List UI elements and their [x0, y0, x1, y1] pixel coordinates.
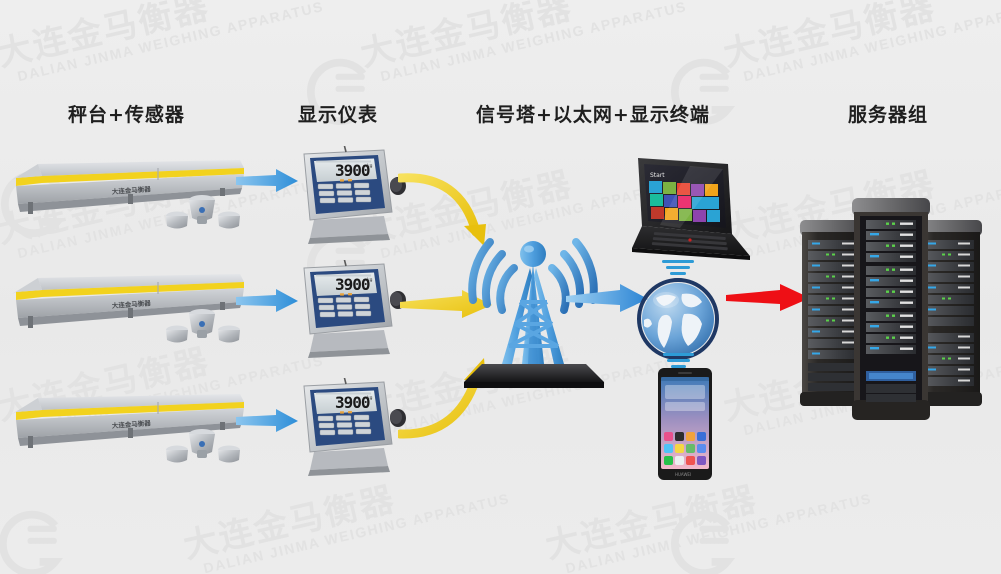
watermark-english: DALIAN JINMA WEIGHING APPARATUS [564, 490, 874, 574]
heading-indicator: 显示仪表 [298, 100, 378, 127]
diagram-canvas: 大连金马衡器 DALIAN JINMA WEIGHING APPARATUS 大… [0, 0, 1001, 574]
watermark-chinese: 大连金马衡器 [355, 0, 686, 76]
indicator-display-unit: kg [367, 163, 373, 169]
weight-indicator[interactable]: 3900 kg [288, 146, 408, 250]
load-cell-sensor [166, 326, 188, 343]
load-cell-sensor [166, 212, 188, 229]
load-cell-sensor-group [165, 186, 243, 232]
load-cell-sensor [218, 446, 240, 463]
load-cell-sensor [189, 429, 215, 458]
heading-scale: 秤台+传感器 [68, 100, 185, 127]
weight-indicator[interactable]: 3900 kg [288, 378, 408, 482]
load-cell-sensor [218, 212, 240, 229]
watermark: 大连金马衡器 DALIAN JINMA WEIGHING APPARATUS [355, 0, 688, 87]
indicator-display-value: 3900 [335, 393, 370, 412]
watermark: 大连金马衡器 DALIAN JINMA WEIGHING APPARATUS [718, 0, 1001, 87]
watermark-english: DALIAN JINMA WEIGHING APPARATUS [742, 0, 1001, 84]
smartphone-terminal[interactable]: HUAWEI [654, 366, 716, 484]
laptop-start-label: Start [650, 172, 665, 179]
watermark: 大连金马衡器 DALIAN JINMA WEIGHING APPARATUS [0, 0, 325, 87]
indicator-display-unit: kg [367, 395, 373, 401]
weight-indicator[interactable]: 3900 kg [288, 260, 408, 364]
server-rack [852, 198, 930, 420]
load-cell-sensor [189, 309, 215, 338]
load-cell-sensor-group [165, 300, 243, 346]
server-rack-group [786, 188, 996, 446]
indicator-display-value: 3900 [335, 275, 370, 294]
load-cell-sensor-group [165, 420, 243, 466]
laptop-terminal[interactable]: Start [620, 148, 756, 270]
watermark-english: DALIAN JINMA WEIGHING APPARATUS [202, 490, 512, 574]
watermark-chinese: 大连金马衡器 [0, 0, 323, 76]
heading-server: 服务器组 [848, 100, 928, 127]
watermark-english: DALIAN JINMA WEIGHING APPARATUS [379, 0, 689, 84]
load-cell-sensor [166, 446, 188, 463]
watermark-english: DALIAN JINMA WEIGHING APPARATUS [16, 0, 326, 84]
indicator-display-unit: kg [367, 277, 373, 283]
load-cell-sensor [189, 195, 215, 224]
jinma-swirl-logo [0, 500, 74, 574]
watermark-chinese: 大连金马衡器 [718, 0, 1001, 76]
indicator-display-value: 3900 [335, 161, 370, 180]
phone-brand: HUAWEI [675, 472, 691, 477]
load-cell-sensor [218, 326, 240, 343]
heading-tower: 信号塔+以太网+显示终端 [476, 100, 710, 127]
jinma-swirl-logo [660, 500, 746, 574]
